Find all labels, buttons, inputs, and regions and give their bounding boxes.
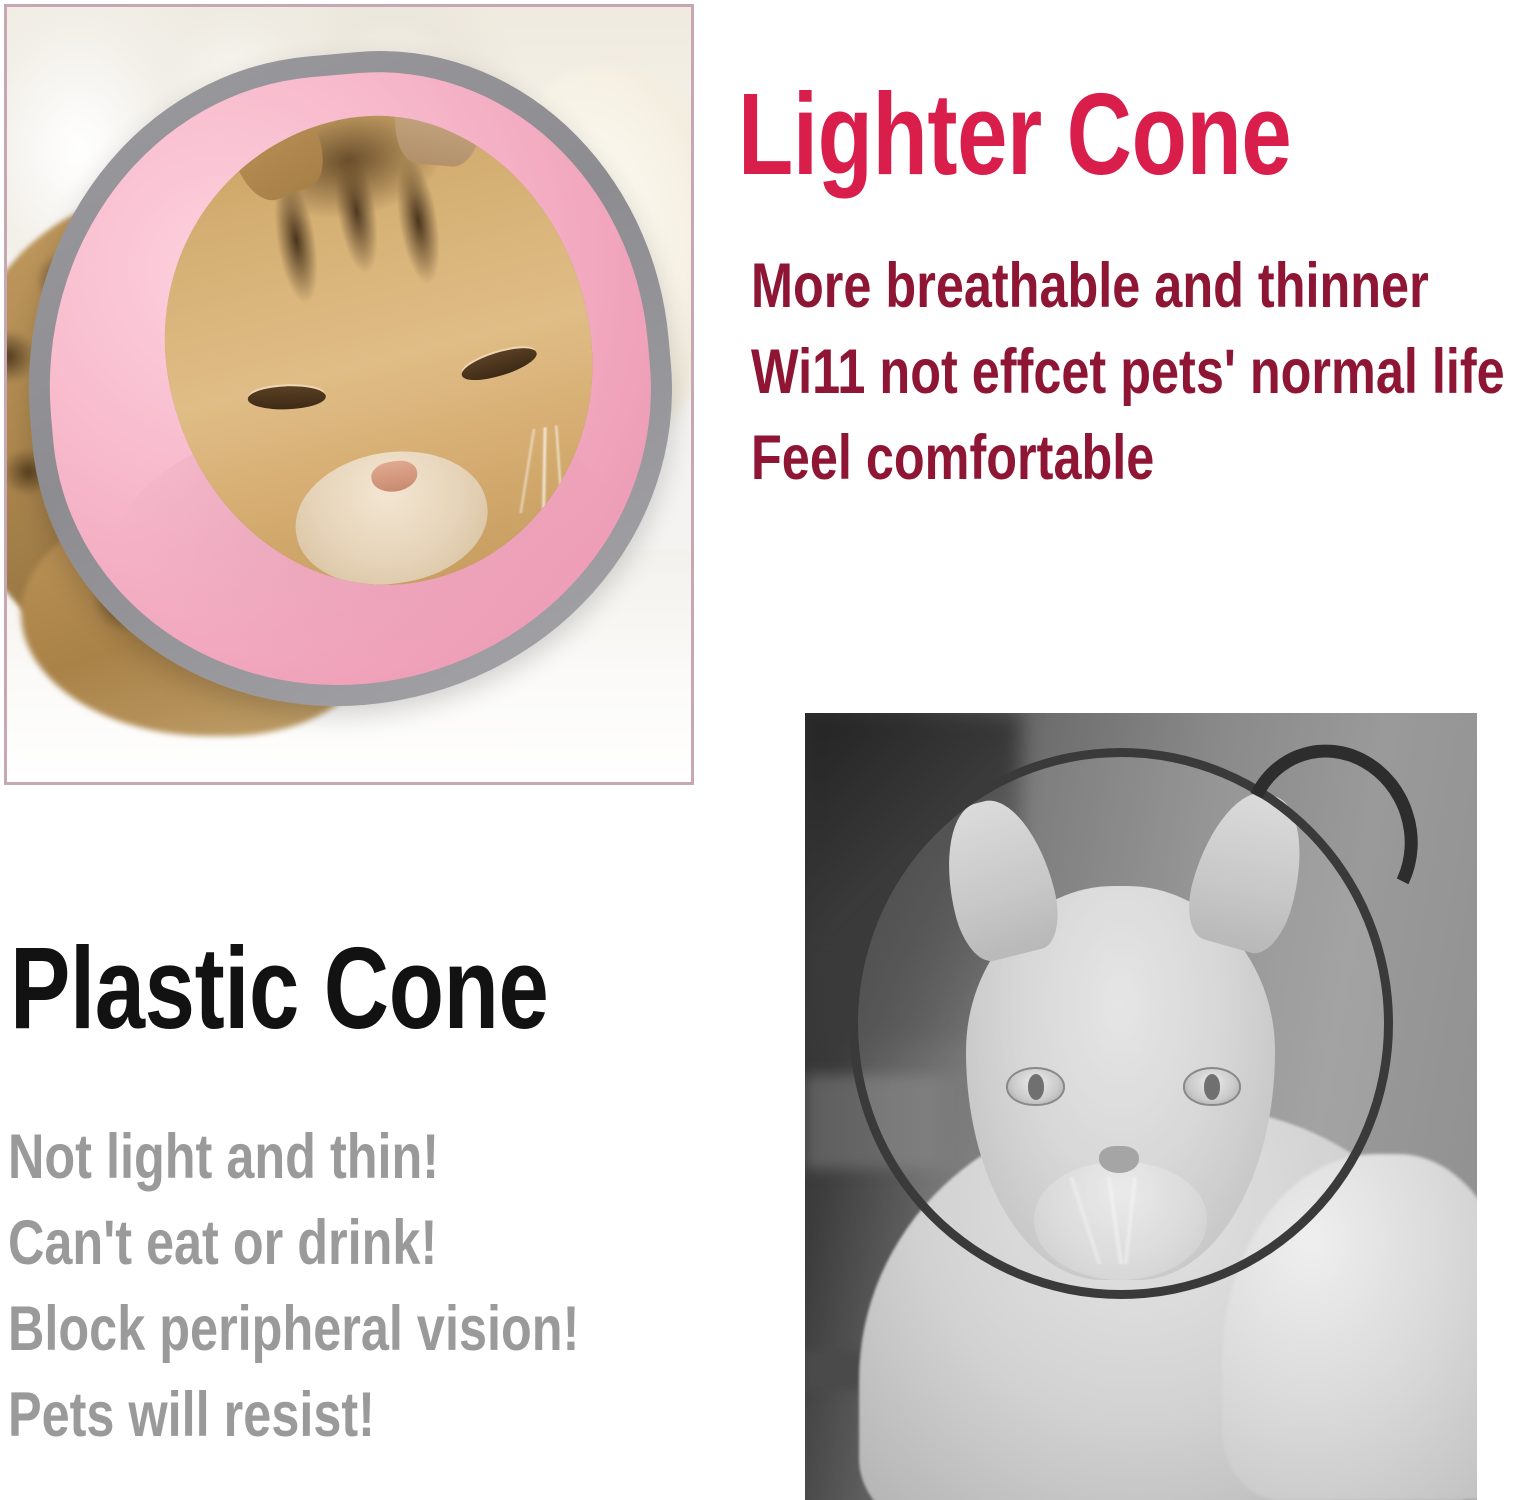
plastic-cone-drawback: Not light and thin! xyxy=(8,1126,439,1189)
cat-head-opening xyxy=(133,86,625,615)
lighter-cone-benefit: Wi11 not effcet pets' normal life xyxy=(751,341,1505,404)
plastic-cone-photo xyxy=(805,713,1477,1500)
cat-eye-right-closed xyxy=(459,341,540,386)
plastic-cone-drawback: Pets will resist! xyxy=(8,1384,375,1447)
lighter-cone-photo xyxy=(4,4,694,785)
cat-head xyxy=(133,86,625,615)
plastic-cone-drawback: Block peripheral vision! xyxy=(8,1298,579,1361)
lighter-cone-photo-content xyxy=(7,7,691,782)
plastic-cone-drawback: Can't eat or drink! xyxy=(8,1212,437,1275)
lighter-cone-benefit: Feel comfortable xyxy=(751,427,1154,490)
cat-whiskers xyxy=(449,413,625,522)
plastic-cone-photo-content xyxy=(805,713,1477,1500)
infographic-canvas: Lighter Cone More breathable and thinner… xyxy=(0,0,1517,1500)
lighter-cone-title: Lighter Cone xyxy=(738,76,1291,192)
cat-eye-left-closed xyxy=(247,384,326,409)
lighter-cone-benefit: More breathable and thinner xyxy=(751,255,1429,318)
plastic-cone-title: Plastic Cone xyxy=(10,930,548,1046)
